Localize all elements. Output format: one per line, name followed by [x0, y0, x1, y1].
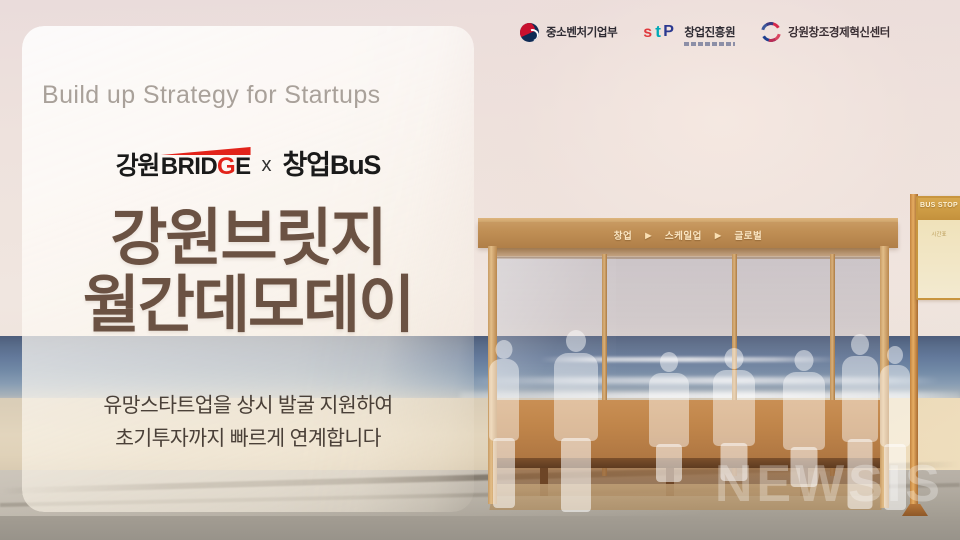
subtitle-line-1: 유망스타트업을 상시 발굴 지원하여: [22, 389, 474, 422]
logo-kised-wrap: 창업진흥원: [684, 23, 735, 41]
page-title: 강원브릿지 월간데모데이: [22, 206, 474, 340]
taegeuk-icon: [520, 23, 539, 42]
changeop-bus-logo: 창업BuS: [283, 152, 381, 179]
promo-poster: 창업 ▶ 스케일업 ▶ 글로벌: [0, 0, 960, 540]
bridge-highlight-g: G: [217, 153, 235, 180]
ghost-figure: [782, 350, 826, 486]
partner-logos: 중소벤처기업부 s t P 창업진흥원 강원창조경제혁신센터: [520, 22, 890, 42]
title-line-1: 강원브릿지: [110, 204, 385, 273]
ghost-figure: [648, 352, 690, 480]
stp-s: s: [643, 24, 652, 42]
stp-icon: s t P: [643, 22, 677, 42]
logo-mss: 중소벤처기업부: [520, 23, 617, 42]
bridge-wordmark: BRIDGE: [161, 155, 251, 179]
ghost-figure: [712, 348, 756, 480]
ghost-figure: [878, 346, 912, 512]
ghost-figure: [487, 338, 521, 508]
panel-content: Build up Strategy for Startups 강원 BRIDGE…: [22, 26, 474, 512]
pinwheel-icon: [761, 22, 781, 42]
logo-mss-label: 중소벤처기업부: [546, 24, 617, 40]
gangwon-korean-text: 강원: [116, 154, 159, 179]
separator-x: x: [260, 154, 274, 179]
ghost-figure: [840, 334, 880, 510]
stp-p: P: [663, 23, 674, 41]
ghost-figure: [552, 330, 600, 512]
kised-underbar: [684, 42, 735, 46]
title-line-2: 월간데모데이: [22, 273, 474, 340]
bridge-part1: BRID: [161, 153, 217, 180]
bridge-word: BRIDGE: [161, 153, 251, 180]
subtitle: 유망스타트업을 상시 발굴 지원하여 초기투자까지 빠르게 연계합니다: [22, 389, 474, 455]
eyebrow-text: Build up Strategy for Startups: [42, 81, 462, 110]
subtitle-line-2: 초기투자까지 빠르게 연계합니다: [22, 422, 474, 455]
logo-gccei: 강원창조경제혁신센터: [761, 22, 890, 42]
bridge-part2: E: [235, 153, 250, 180]
red-swoosh-icon: [161, 147, 251, 155]
logo-kised-label: 창업진흥원: [684, 27, 735, 39]
logo-kised: s t P 창업진흥원: [643, 22, 735, 42]
brand-lockup: 강원 BRIDGE x 창업BuS: [22, 152, 474, 179]
gangwon-bridge-logo: 강원 BRIDGE: [116, 154, 251, 179]
logo-gccei-label: 강원창조경제혁신센터: [788, 24, 890, 40]
stp-t: t: [655, 22, 661, 42]
